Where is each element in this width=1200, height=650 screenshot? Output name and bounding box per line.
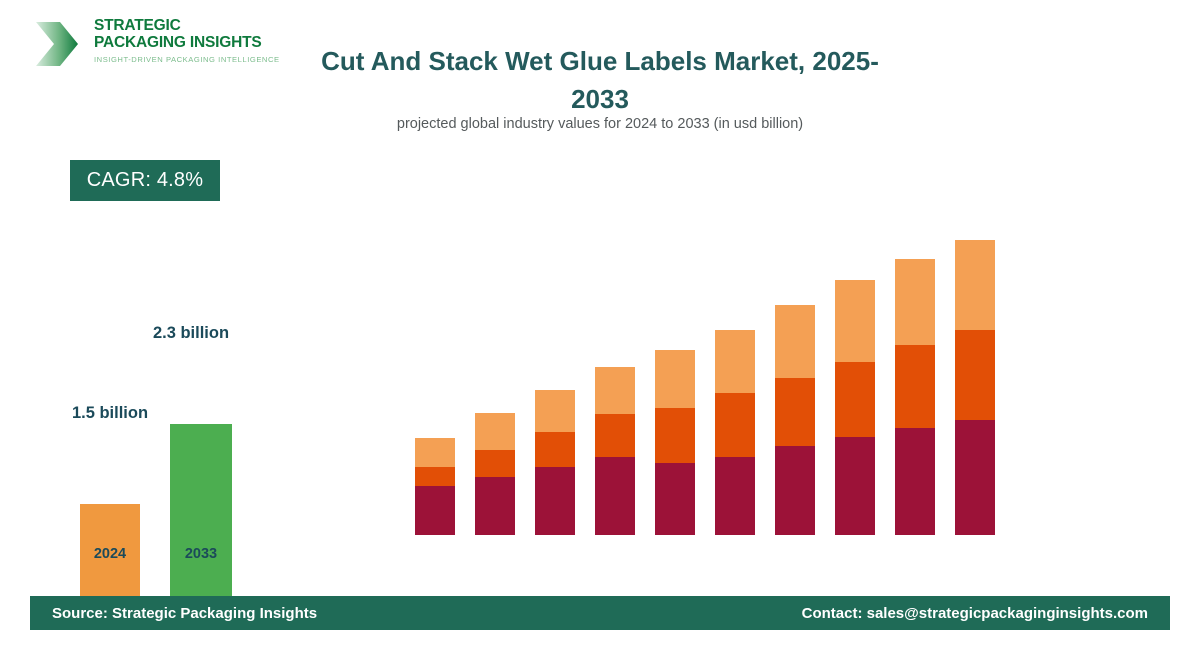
stacked-bar-segment-3 [415,438,455,467]
stacked-bar-segment-1 [715,457,755,535]
stacked-bar-segment-3 [715,330,755,393]
stacked-bar-segment-1 [775,446,815,535]
stacked-bar-segment-3 [895,259,935,345]
stacked-bar [715,330,755,535]
footer-bar: Source: Strategic Packaging Insights Con… [30,596,1170,630]
stacked-bar-segment-1 [835,437,875,535]
stacked-bar-segment-2 [955,330,995,420]
stacked-bar-segment-3 [475,413,515,450]
stacked-bar [595,367,635,535]
stacked-bar [655,350,695,535]
comparison-bar-2033-fill [170,424,232,600]
stacked-bar-segment-2 [775,378,815,446]
stacked-bar-segment-3 [835,280,875,362]
stacked-bar-segment-3 [595,367,635,414]
stacked-bar-segment-1 [415,486,455,535]
stacked-bar [475,413,515,535]
stacked-bar-segment-2 [535,432,575,467]
stacked-bar-segment-1 [595,457,635,535]
stacked-bar [415,438,455,535]
stacked-bar [835,280,875,535]
stacked-bar-segment-2 [595,414,635,457]
stacked-bar-segment-2 [895,345,935,428]
stacked-bar-segment-1 [475,477,515,535]
stacked-bar-segment-1 [655,463,695,535]
footer-source: Source: Strategic Packaging Insights [52,605,317,622]
stacked-bar-segment-2 [655,408,695,463]
stacked-bar-segment-2 [835,362,875,437]
stacked-bar-segment-3 [775,305,815,378]
stacked-bar-segment-3 [655,350,695,408]
stacked-bar [895,259,935,535]
infographic-canvas: STRATEGIC PACKAGING INSIGHTS INSIGHT-DRI… [0,0,1200,650]
comparison-bar-2033 [170,64,232,600]
stacked-bar-segment-2 [415,467,455,486]
stacked-bar-segment-3 [535,390,575,432]
stacked-bar [955,240,995,535]
endpoint-comparison-chart: 1.5 billion 2024 2.3 billion 2033 [0,0,300,600]
stacked-bar [775,305,815,535]
stacked-bar-segment-2 [475,450,515,477]
comparison-label-2033: 2033 [141,546,261,562]
stacked-bar-segment-2 [715,393,755,457]
stacked-bar-segment-1 [955,420,995,535]
footer-contact[interactable]: Contact: sales@strategicpackaginginsight… [802,605,1148,622]
stacked-bar-segment-1 [535,467,575,535]
stacked-bar-segment-3 [955,240,995,330]
stacked-bar [535,390,575,535]
yearly-stacked-forecast-chart: XX2024XX2025XX2026XX2027XX2028XX2029XX20… [405,0,1025,600]
stacked-bar-segment-1 [895,428,935,535]
